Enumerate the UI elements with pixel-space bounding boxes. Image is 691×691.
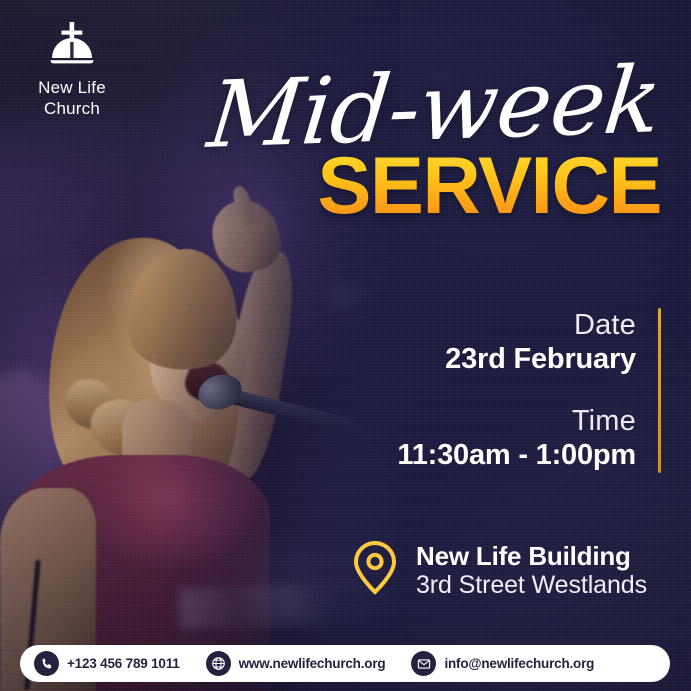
details-gold-rule [658,308,661,473]
date-value: 23rd February [397,342,636,377]
event-location: New Life Building 3rd Street Westlands [352,540,647,601]
date-label: Date [397,308,636,342]
event-details: Date 23rd February Time 11:30am - 1:00pm [397,308,661,473]
contact-email[interactable]: info@newlifechurch.org [411,651,594,676]
location-name: New Life Building [416,541,647,571]
contact-website-text: www.newlifechurch.org [239,656,386,671]
globe-icon [206,651,231,676]
envelope-icon [411,651,436,676]
time-value: 11:30am - 1:00pm [397,438,636,473]
headline-block: Mid-week SERVICE [206,56,661,226]
time-label: Time [397,404,636,438]
event-details-text: Date 23rd February Time 11:30am - 1:00pm [397,308,658,473]
contact-footer-bar: +123 456 789 1011 www.newlifechurch.org [20,645,670,682]
details-spacer [397,378,636,404]
contact-phone[interactable]: +123 456 789 1011 [34,651,180,676]
contact-email-text: info@newlifechurch.org [444,656,594,671]
contact-website[interactable]: www.newlifechurch.org [206,651,386,676]
poster-canvas: New Life Church Mid-week SERVICE Date 23… [0,0,691,691]
church-logo-line1: New Life [38,78,106,97]
location-text: New Life Building 3rd Street Westlands [416,541,647,600]
map-pin-icon [352,540,398,601]
location-address: 3rd Street Westlands [416,571,647,600]
headline-service-word: SERVICE [206,148,661,226]
phone-icon [34,651,59,676]
church-cross-icon [24,20,120,71]
church-logo-line2: Church [44,99,100,118]
church-logo: New Life Church [24,20,120,119]
contact-phone-text: +123 456 789 1011 [67,656,180,671]
